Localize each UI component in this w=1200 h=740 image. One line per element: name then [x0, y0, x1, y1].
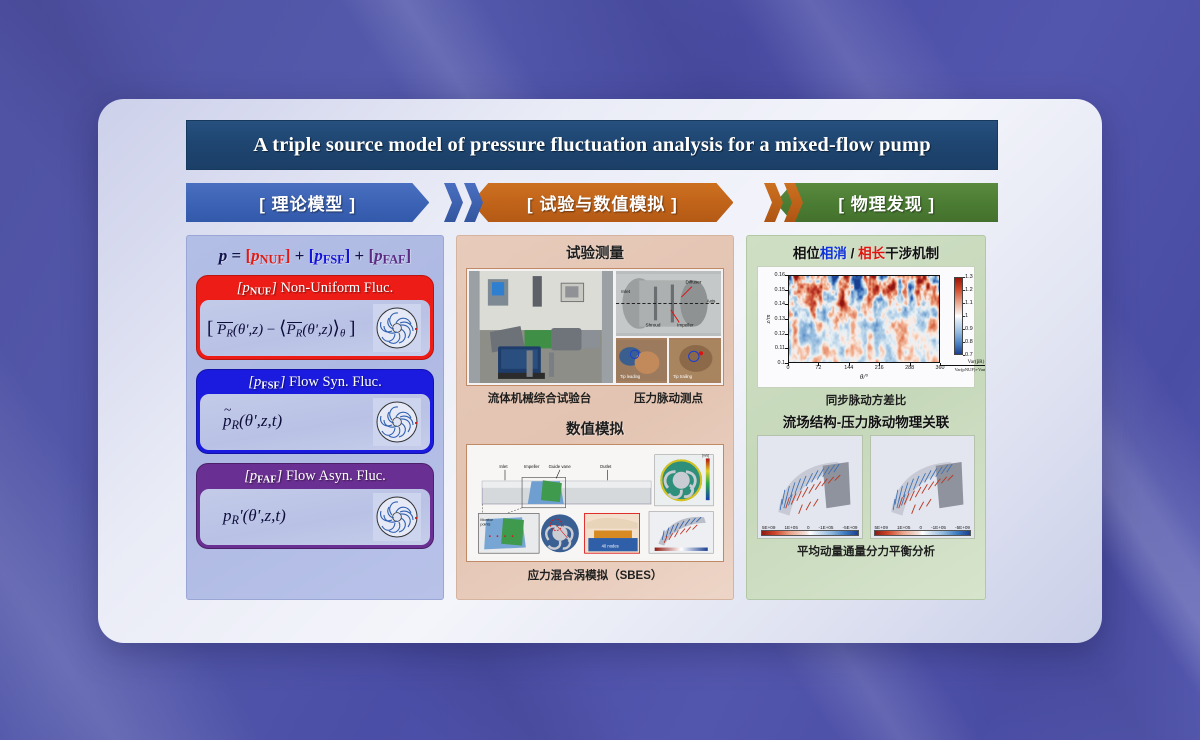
- svg-text:points: points: [480, 523, 490, 527]
- findings-heading-1: 相位相消 / 相长干涉机制: [747, 236, 985, 266]
- stage-chip-findings-label: [ 物理发现 ]: [838, 190, 935, 215]
- momentum-flux-row: 5E+09 1E+05 0 -1E+05 -5E+09: [757, 435, 975, 539]
- cbar-tick: 1E+05: [897, 525, 910, 530]
- source-box-faf-body: pR'(θ',z,t): [200, 489, 430, 545]
- page-title: A triple source model of pressure fluctu…: [253, 134, 930, 157]
- stage-banner: [ 理论模型 ] [ 试验与数值模拟 ] [ 物理发现 ]: [186, 183, 998, 222]
- source-box-fsf[interactable]: [pFSF] Flow Syn. Fluc. ~ pR (θ',z,t): [196, 369, 434, 454]
- svg-text:Monitor: Monitor: [480, 518, 493, 522]
- tip-leading-photo: Tip leading: [616, 338, 668, 383]
- variance-ratio-heatmap: z/m θ/° 0.16 0.15 0.14 0.13 0.12 0.11 0.…: [757, 266, 975, 388]
- findings-heading-2: 流场结构-压力脉动物理关联: [747, 408, 985, 435]
- source-box-fsf-name: Flow Syn. Fluc.: [289, 374, 382, 390]
- colorbar-tick: 0.7: [965, 352, 973, 358]
- svg-text:Tip leading: Tip leading: [620, 374, 641, 379]
- colorbar-tick: 1.3: [965, 274, 973, 280]
- svg-text:Inlet: Inlet: [621, 289, 630, 294]
- heatmap-colorbar-gradient: [954, 277, 963, 355]
- findings-heading-1-slash: /: [847, 246, 858, 261]
- heatmap-colorbar: 1.3 1.2 1.1 1 0.9 0.8 0.7: [954, 277, 963, 355]
- caption-measurement-points: 压力脉动测点: [613, 390, 724, 406]
- caption-variance-ratio: 同步脉动方差比: [747, 392, 985, 408]
- measurement-points-photo: Inlet Diffuser Axis Shroud Impeller: [616, 271, 721, 383]
- column-findings: 相位相消 / 相长干涉机制 z/m θ/° 0.16 0.15 0.14 0.1…: [746, 235, 986, 600]
- chevron-right-icon: [764, 183, 810, 222]
- svg-text:Diffuser: Diffuser: [685, 279, 701, 284]
- findings-heading-1-b: 相消: [820, 246, 847, 261]
- heatmap-ytick: 0.16: [775, 272, 786, 278]
- experiment-captions: 流体机械综合试验台 压力脉动测点: [466, 390, 724, 406]
- cbar-tick: 0: [919, 525, 922, 530]
- stage-chip-theory-label: [ 理论模型 ]: [259, 190, 356, 215]
- svg-text:Shroud: Shroud: [645, 323, 660, 328]
- findings-heading-1-a: 相位: [793, 246, 820, 261]
- source-box-faf-name: Flow Asyn. Fluc.: [286, 468, 386, 484]
- heatmap-ytick: 0.11: [775, 345, 785, 351]
- svg-text:[m/s]: [m/s]: [702, 454, 709, 458]
- heatmap-plot-area: z/m θ/° 0.16 0.15 0.14 0.13 0.12 0.11 0.…: [788, 275, 940, 363]
- caption-simulation: 应力混合涡模拟（SBES）: [457, 567, 733, 583]
- tip-trailing-photo: Tip trailing: [669, 338, 721, 383]
- stage-chip-experiment[interactable]: [ 试验与数值模拟 ]: [471, 183, 733, 222]
- source-box-faf-header: [pFAF] Flow Asyn. Fluc.: [200, 467, 430, 488]
- colorbar-ratio-denominator: Var(pNUF)+Var(pFSF): [940, 365, 986, 372]
- tip-photos: Tip leading Tip trailing: [616, 338, 721, 383]
- cbar-tick: -1E+05: [819, 525, 834, 530]
- heatmap-ytick: 0.14: [775, 301, 786, 307]
- colorbar-tick: 1.2: [965, 287, 973, 293]
- chevron-right-icon: [444, 183, 490, 222]
- momentum-cbar-gradient: [761, 530, 859, 536]
- colorbar-ratio-label: Var(p̃R) Var(pNUF)+Var(pFSF): [940, 359, 986, 372]
- cbar-tick: -5E+09: [955, 525, 970, 530]
- simulation-section-title: 数值模拟: [457, 406, 733, 444]
- cbar-tick: -1E+05: [931, 525, 946, 530]
- formula-faf: pR'(θ',z,t): [207, 506, 286, 528]
- heatmap-ytick: 0.13: [775, 316, 786, 322]
- poster-columns: p = [pNUF] + [pFSF] + [pFAF] [pNUF] Non-…: [186, 235, 998, 600]
- heatmap-ytick: 0.15: [775, 287, 786, 293]
- experiment-section-title: 试验测量: [457, 236, 733, 268]
- momentum-flux-panel-right: 5E+09 1E+05 0 -1E+05 -5E+09: [870, 435, 976, 539]
- momentum-flux-panel-left: 5E+09 1E+05 0 -1E+05 -5E+09: [757, 435, 863, 539]
- stage-chip-experiment-label: [ 试验与数值模拟 ]: [527, 190, 678, 215]
- impeller-icon: [373, 304, 421, 352]
- heatmap-ytick: 0.1: [778, 360, 786, 366]
- colorbar-tick: 1.1: [965, 300, 973, 306]
- source-box-faf[interactable]: [pFAF] Flow Asyn. Fluc. pR'(θ',z,t): [196, 463, 434, 548]
- svg-text:Tip trailing: Tip trailing: [673, 374, 693, 379]
- pump-section-photo: Inlet Diffuser Axis Shroud Impeller: [616, 271, 721, 336]
- cbar-tick: 1E+05: [784, 525, 797, 530]
- source-box-nuf-body: [ PR(θ',z) − ⟨PR(θ',z)⟩θ ]: [200, 300, 430, 356]
- source-box-fsf-header: [pFSF] Flow Syn. Fluc.: [200, 373, 430, 394]
- momentum-cbar-gradient: [874, 530, 972, 536]
- triple-source-equation: p = [pNUF] + [pFSF] + [pFAF]: [187, 246, 443, 268]
- colorbar-tick: 0.8: [965, 339, 973, 345]
- poster-content: A triple source model of pressure fluctu…: [186, 120, 998, 612]
- test-rig-photo: [469, 271, 613, 383]
- caption-test-rig: 流体机械综合试验台: [466, 390, 613, 406]
- cbar-tick: 5E+09: [762, 525, 775, 530]
- findings-heading-1-c: 相长: [858, 246, 885, 261]
- source-box-nuf-name: Non-Uniform Fluc.: [280, 280, 393, 296]
- column-experiment: 试验测量: [456, 235, 734, 600]
- svg-text:40 nodes: 40 nodes: [602, 544, 619, 549]
- heatmap-canvas: [788, 275, 940, 363]
- svg-text:Outlet: Outlet: [600, 464, 612, 469]
- column-theory: p = [pNUF] + [pFSF] + [pFAF] [pNUF] Non-…: [186, 235, 444, 600]
- poster-title-bar: A triple source model of pressure fluctu…: [186, 120, 998, 170]
- svg-text:Impeller: Impeller: [677, 323, 694, 328]
- cbar-tick: 0: [807, 525, 810, 530]
- svg-text:Inlet: Inlet: [499, 464, 508, 469]
- simulation-figure: Inlet Impeller Guide vane Outlet Monitor…: [466, 444, 724, 562]
- colorbar-tick: 0.9: [965, 326, 973, 332]
- findings-heading-1-d: 干涉机制: [885, 246, 939, 261]
- source-box-nuf-header: [pNUF] Non-Uniform Fluc.: [200, 279, 430, 300]
- cbar-tick: -5E+09: [843, 525, 858, 530]
- heatmap-ylabel: z/m: [765, 315, 772, 324]
- heatmap-xlabel: θ/°: [860, 373, 868, 381]
- stage-chip-theory[interactable]: [ 理论模型 ]: [186, 183, 429, 222]
- heatmap-pixels: [789, 276, 940, 363]
- colorbar-tick: 1: [965, 313, 968, 319]
- source-box-fsf-body: ~ pR (θ',z,t): [200, 394, 430, 450]
- formula-nuf: [ PR(θ',z) − ⟨PR(θ',z)⟩θ ]: [207, 316, 355, 340]
- cbar-tick: 5E+09: [875, 525, 888, 530]
- formula-fsf: ~ pR (θ',z,t): [207, 411, 282, 433]
- heatmap-ytick: 0.12: [775, 331, 786, 337]
- impeller-icon: [373, 493, 421, 541]
- poster-background: A triple source model of pressure fluctu…: [0, 0, 1200, 740]
- caption-momentum-flux: 平均动量通量分力平衡分析: [747, 543, 985, 559]
- impeller-icon: [373, 398, 421, 446]
- svg-text:Guide vane: Guide vane: [549, 464, 572, 469]
- svg-text:Axis: Axis: [706, 298, 715, 303]
- source-box-nuf[interactable]: [pNUF] Non-Uniform Fluc. [ PR(θ',z) − ⟨P…: [196, 275, 434, 360]
- svg-text:Impeller: Impeller: [524, 464, 540, 469]
- experiment-photo-row: Inlet Diffuser Axis Shroud Impeller: [466, 268, 724, 386]
